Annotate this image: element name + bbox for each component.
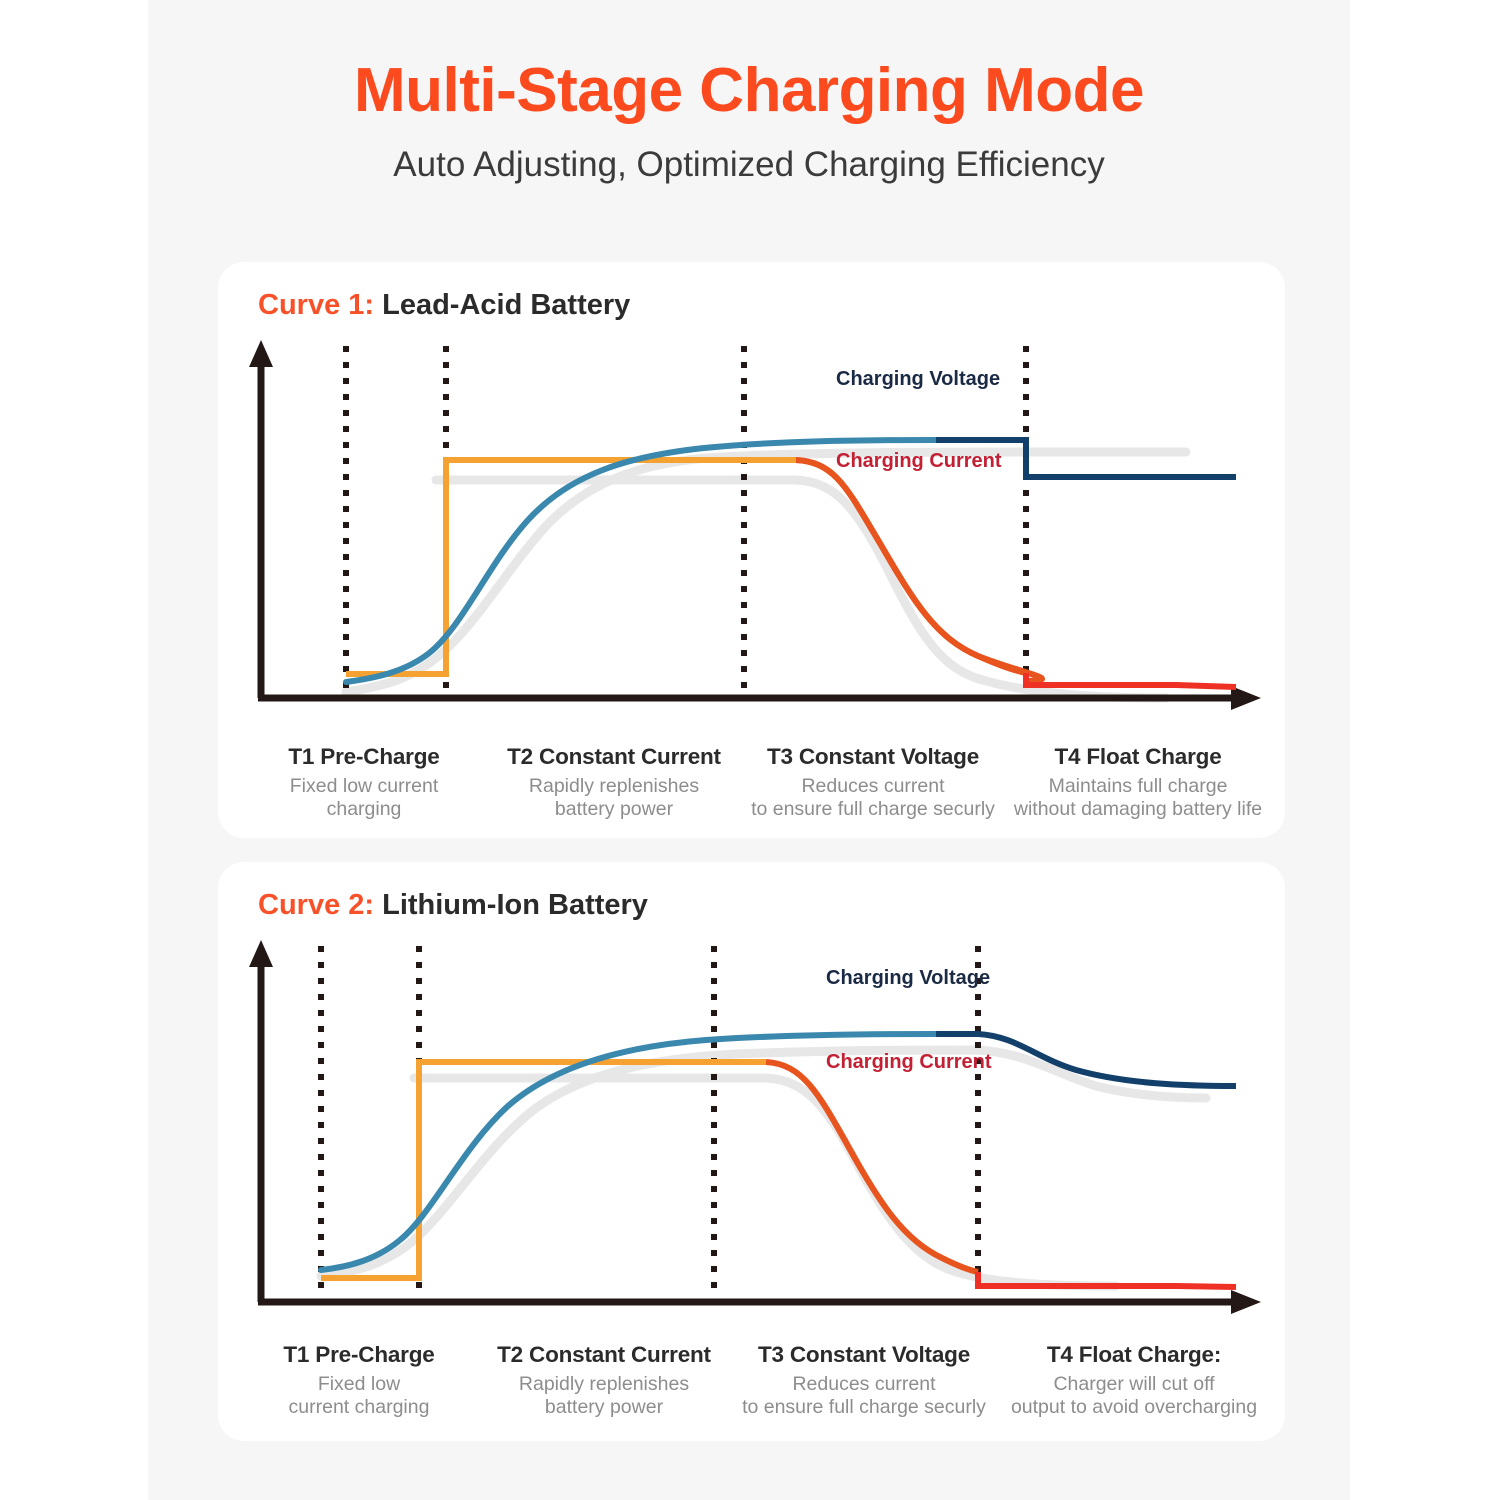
battery-type-label: Lead-Acid Battery	[382, 289, 630, 321]
current-fall-path-2	[766, 1062, 978, 1272]
stage-t2-desc-2: Rapidly replenishes battery power	[480, 1373, 728, 1419]
battery-type-label-2: Lithium-Ion Battery	[382, 889, 648, 921]
stage-t4-desc-2: Charger will cut off output to avoid ove…	[1000, 1373, 1268, 1419]
chart-lead-acid: Charging Voltage Charging Current	[236, 340, 1266, 740]
stage-t2: T2 Constant Current Rapidly replenishes …	[490, 744, 738, 821]
shadow-voltage-path-2	[321, 1050, 1206, 1276]
chart-axes	[249, 340, 1261, 710]
y-axis-arrow-icon-2	[249, 940, 273, 967]
page-background: Multi-Stage Charging Mode Auto Adjusting…	[148, 0, 1350, 1500]
curve-number-label-2: Curve 2:	[258, 889, 374, 921]
curve-number-label: Curve 1:	[258, 289, 374, 321]
stage-t1-desc: Fixed low current charging	[238, 775, 490, 821]
stage-t4: T4 Float Charge Maintains full charge wi…	[1008, 744, 1268, 821]
y-axis-arrow-icon	[249, 340, 273, 367]
stage-t4-title: T4 Float Charge	[1008, 744, 1268, 770]
shadow-current-path	[436, 480, 1166, 698]
page-subtitle: Auto Adjusting, Optimized Charging Effic…	[148, 145, 1350, 185]
shadow-curves	[346, 452, 1186, 698]
chart-lithium-ion: Charging Voltage Charging Current	[236, 940, 1266, 1340]
chart-label-charging-voltage: Charging Voltage	[836, 368, 1000, 390]
stage-t1-title: T1 Pre-Charge	[238, 744, 490, 770]
stage-t1-title-2: T1 Pre-Charge	[238, 1342, 480, 1368]
stage-labels-lead-acid: T1 Pre-Charge Fixed low current charging…	[238, 744, 1268, 821]
stage-t3-desc: Reduces current to ensure full charge se…	[738, 775, 1008, 821]
stage-t2-desc: Rapidly replenishes battery power	[490, 775, 738, 821]
stage-t3-2: T3 Constant Voltage Reduces current to e…	[728, 1342, 1000, 1419]
stage-t3-title-2: T3 Constant Voltage	[728, 1342, 1000, 1368]
stage-t2-2: T2 Constant Current Rapidly replenishes …	[480, 1342, 728, 1419]
chart-lead-acid-svg: Charging Voltage Charging Current	[236, 340, 1266, 740]
curve-card-lead-acid: Curve 1: Lead-Acid Battery	[218, 262, 1285, 838]
stage-t3-title: T3 Constant Voltage	[738, 744, 1008, 770]
stage-labels-lithium-ion: T1 Pre-Charge Fixed low current charging…	[238, 1342, 1268, 1419]
shadow-voltage-path	[346, 452, 1186, 692]
page-header: Multi-Stage Charging Mode Auto Adjusting…	[148, 0, 1350, 185]
stage-t3: T3 Constant Voltage Reduces current to e…	[738, 744, 1008, 821]
chart-label-charging-current: Charging Current	[836, 450, 1002, 472]
stage-t3-desc-2: Reduces current to ensure full charge se…	[728, 1373, 1000, 1419]
stage-t1: T1 Pre-Charge Fixed low current charging	[238, 744, 490, 821]
chart-label-charging-voltage-2: Charging Voltage	[826, 967, 990, 989]
stage-t2-title: T2 Constant Current	[490, 744, 738, 770]
chart-axes-2	[249, 940, 1261, 1314]
card-2-heading: Curve 2: Lithium-Ion Battery	[258, 889, 648, 922]
current-float-path	[1026, 673, 1236, 687]
stage-t4-title-2: T4 Float Charge:	[1000, 1342, 1268, 1368]
curve-card-lithium-ion: Curve 2: Lithium-Ion Battery	[218, 862, 1285, 1441]
stage-t2-title-2: T2 Constant Current	[480, 1342, 728, 1368]
page-title: Multi-Stage Charging Mode	[148, 58, 1350, 123]
chart-label-charging-current-2: Charging Current	[826, 1051, 992, 1073]
stage-t1-2: T1 Pre-Charge Fixed low current charging	[238, 1342, 480, 1419]
x-axis-arrow-icon-2	[1231, 1290, 1261, 1314]
stage-t1-desc-2: Fixed low current charging	[238, 1373, 480, 1419]
shadow-current-path-2	[414, 1078, 1116, 1286]
chart-lithium-ion-svg: Charging Voltage Charging Current	[236, 940, 1266, 1340]
current-step-path	[346, 460, 796, 674]
stage-t4-2: T4 Float Charge: Charger will cut off ou…	[1000, 1342, 1268, 1419]
stage-t4-desc: Maintains full charge without damaging b…	[1008, 775, 1268, 821]
card-1-heading: Curve 1: Lead-Acid Battery	[258, 289, 630, 322]
